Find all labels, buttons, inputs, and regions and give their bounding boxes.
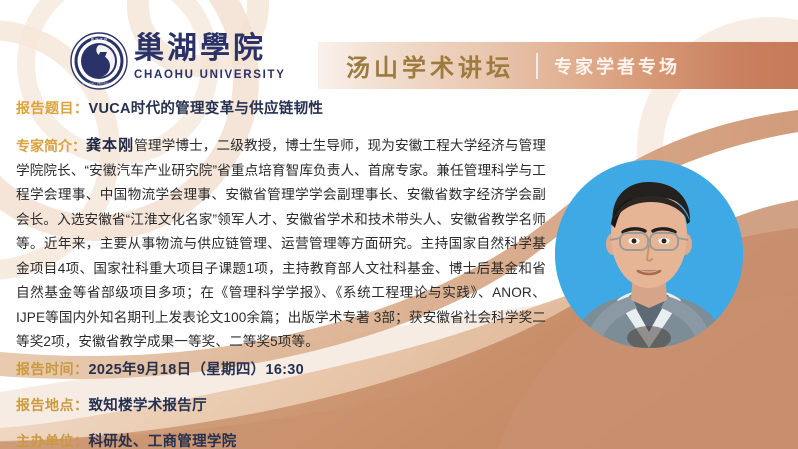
- speaker-portrait: [555, 160, 743, 348]
- banner-divider: [536, 53, 538, 79]
- speaker-bio-label: 专家简介：: [16, 134, 86, 159]
- lecture-organizer-value: 科研处、工商管理学院: [89, 430, 237, 449]
- university-wordmark: 巢湖學院 CHAOHU UNIVERSITY: [134, 32, 304, 90]
- lecture-poster: 巢 湖 学 院 CHAOHU UNIVERSITY 巢湖學院 CHAOHU UN…: [0, 0, 798, 449]
- lecture-info-block: 报告时间： 2025年9月18日（星期四）16:30 报告地点： 致知楼学术报告…: [16, 358, 304, 449]
- university-name-cn: 巢湖學院: [134, 32, 304, 66]
- lecture-title-value: VUCA时代的管理变革与供应链韧性: [89, 97, 324, 118]
- lecture-venue-row: 报告地点： 致知楼学术报告厅: [16, 394, 304, 415]
- poster-header: 巢 湖 学 院 CHAOHU UNIVERSITY 巢湖學院 CHAOHU UN…: [0, 0, 798, 96]
- lecture-organizer-row: 主办单位： 科研处、工商管理学院: [16, 430, 304, 449]
- lecture-venue-label: 报告地点：: [16, 395, 89, 415]
- series-banner: 汤山学术讲坛 专家学者专场: [318, 42, 798, 89]
- series-title: 汤山学术讲坛: [346, 48, 514, 83]
- lecture-title-label: 报告题目：: [16, 98, 89, 118]
- svg-text:巢 湖 学 院: 巢 湖 学 院: [91, 37, 108, 42]
- speaker-bio-block: 专家简介： 龚本刚管理学博士，二级教授，博士生导师，现为安徽工程大学经济与管理学…: [16, 134, 546, 355]
- lecture-title-row: 报告题目： VUCA时代的管理变革与供应链韧性: [16, 97, 323, 118]
- lecture-time-row: 报告时间： 2025年9月18日（星期四）16:30: [16, 358, 304, 379]
- speaker-name: 龚本刚: [86, 137, 134, 154]
- speaker-bio-text: 龚本刚管理学博士，二级教授，博士生导师，现为安徽工程大学经济与管理学院院长、“安…: [16, 134, 546, 355]
- university-seal-icon: 巢 湖 学 院 CHAOHU UNIVERSITY: [70, 32, 128, 90]
- lecture-time-value: 2025年9月18日（星期四）16:30: [89, 358, 305, 379]
- lecture-organizer-label: 主办单位：: [16, 431, 89, 449]
- speaker-bio-body: 管理学博士，二级教授，博士生导师，现为安徽工程大学经济与管理学院院长、“安徽汽车…: [16, 138, 546, 349]
- university-name-en: CHAOHU UNIVERSITY: [134, 68, 304, 82]
- lecture-time-label: 报告时间：: [16, 359, 89, 379]
- lecture-venue-value: 致知楼学术报告厅: [89, 394, 207, 415]
- svg-text:CHAOHU UNIVERSITY: CHAOHU UNIVERSITY: [83, 82, 116, 86]
- series-subtitle: 专家学者专场: [554, 53, 680, 79]
